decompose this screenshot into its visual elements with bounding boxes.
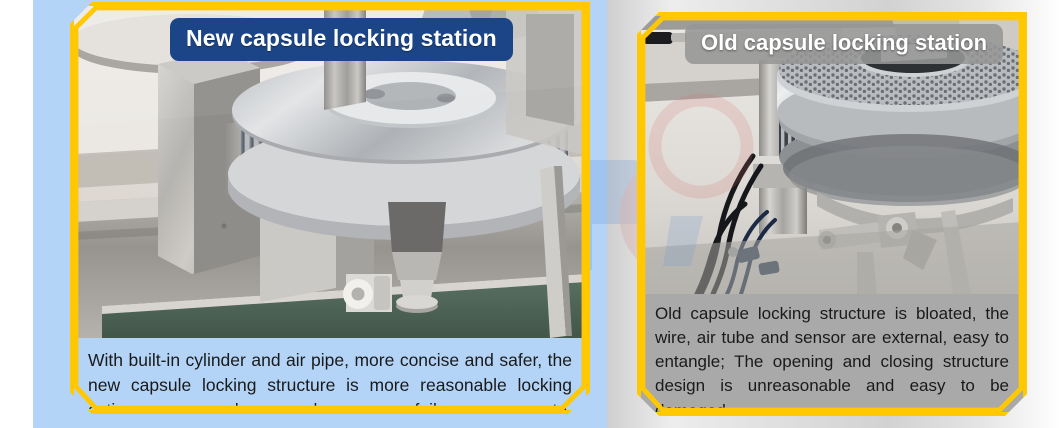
photo-old-capsule-locking-station: Old capsule locking station [641,16,1023,294]
badge-new-capsule-locking-station: New capsule locking station [170,18,513,61]
panel-old-capsule-locking-station: Old capsule locking station Old capsule … [637,12,1027,416]
panel-new-capsule-locking-station: New capsule locking station With built-i… [70,2,590,414]
badge-old-capsule-locking-station: Old capsule locking station [685,24,1003,64]
comparison-figure: New capsule locking station With built-i… [0,0,1060,428]
caption-new-capsule-locking-station: With built-in cylinder and air pipe, mor… [74,338,586,414]
caption-old-capsule-locking-station: Old capsule locking structure is bloated… [641,294,1023,416]
caption-new-text: With built-in cylinder and air pipe, mor… [88,348,572,414]
photo-new-capsule-locking-station: New capsule locking station [74,6,586,338]
caption-old-text: Old capsule locking structure is bloated… [655,302,1009,416]
